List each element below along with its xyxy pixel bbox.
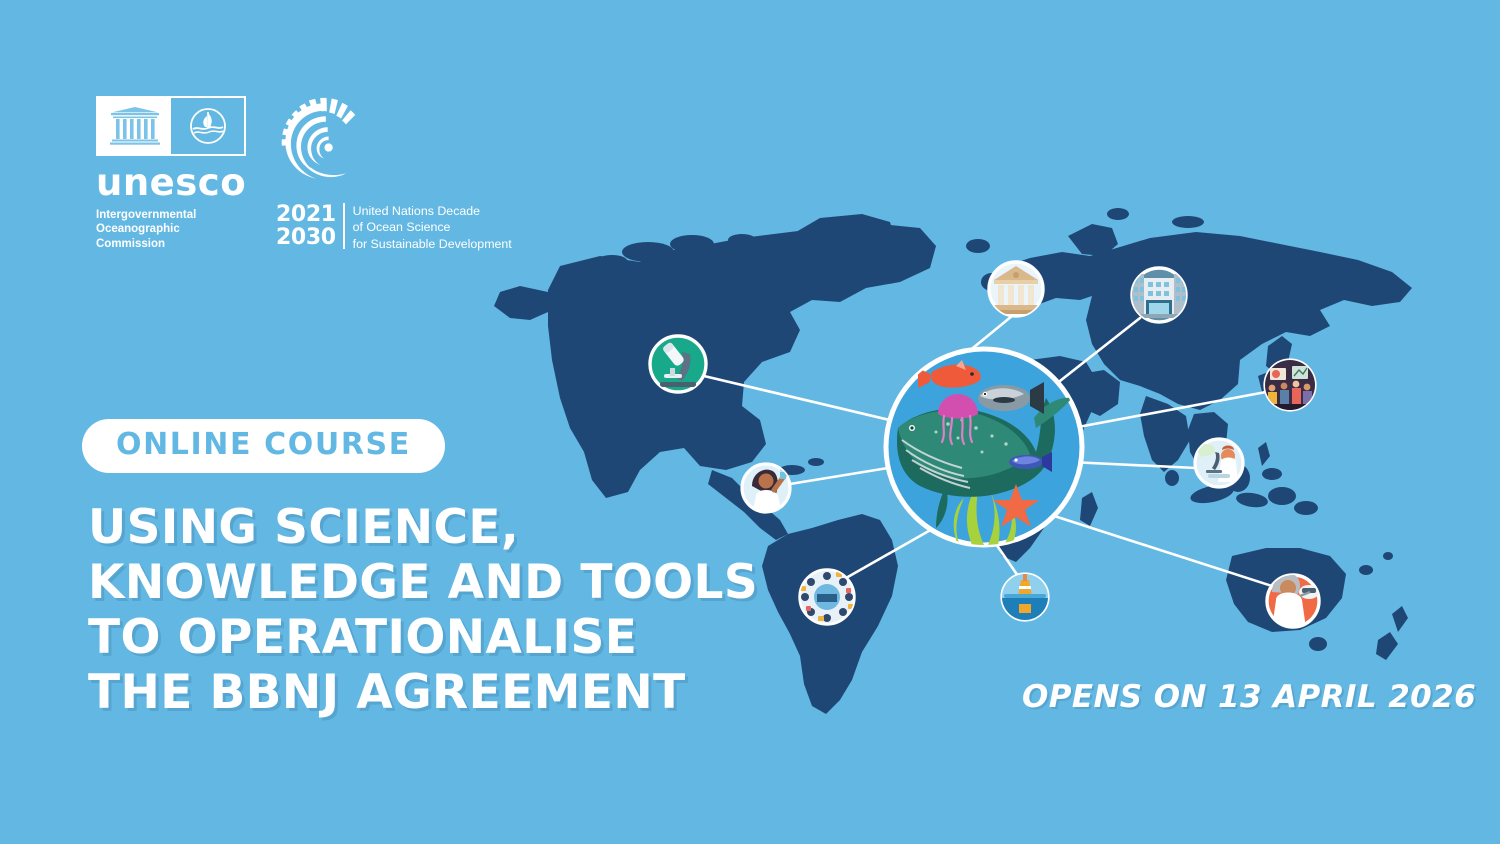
node-workshop-meeting[interactable] xyxy=(1265,360,1315,412)
link-lab-center xyxy=(1070,462,1196,468)
unesco-temple-icon xyxy=(98,98,171,154)
opens-on-date: OPENS ON 13 APRIL 2026 xyxy=(1022,679,1476,715)
land-alaska xyxy=(494,286,548,320)
unesco-logo: unesco Intergovernmental Oceanographic C… xyxy=(96,96,248,251)
land-new-zealand-south xyxy=(1376,632,1398,660)
land-novaya-zemlya xyxy=(1172,216,1204,228)
node-collaboration[interactable] xyxy=(800,570,854,624)
ocean-decade-text: 2021 2030 United Nations Decade of Ocean… xyxy=(276,203,536,252)
node-microscope[interactable] xyxy=(650,336,706,392)
link-field-center xyxy=(1048,514,1272,586)
ioc-ship-wave-icon xyxy=(171,98,244,154)
land-svalbard xyxy=(1107,208,1129,220)
land-pacific-island-1 xyxy=(1359,565,1373,575)
node-lab-scientist[interactable] xyxy=(1195,439,1243,487)
page-title: USING SCIENCE, KNOWLEDGE AND TOOLS TO OP… xyxy=(88,500,758,720)
node-field-researcher[interactable] xyxy=(1267,574,1319,628)
land-pacific-island-2 xyxy=(1383,552,1393,560)
land-tasmania xyxy=(1309,637,1327,651)
ocean-biodiversity-circle[interactable] xyxy=(886,349,1082,545)
unesco-emblem xyxy=(96,96,246,156)
land-iceland xyxy=(966,239,990,253)
ocean-decade-spiral-icon xyxy=(278,96,370,188)
land-caribbean-2 xyxy=(808,458,824,466)
ocean-decade-caption: United Nations Decade of Ocean Science f… xyxy=(345,203,512,252)
node-modern-institute[interactable] xyxy=(1130,268,1188,322)
node-ocean-buoy[interactable] xyxy=(1002,574,1048,620)
poster-canvas: unesco Intergovernmental Oceanographic C… xyxy=(0,0,1500,844)
ocean-decade-years: 2021 2030 xyxy=(276,203,345,249)
node-classical-building[interactable] xyxy=(989,262,1043,316)
unesco-temple-svg xyxy=(108,107,162,145)
ocean-decade-logo: 2021 2030 United Nations Decade of Ocean… xyxy=(276,96,536,252)
unesco-subtitle: Intergovernmental Oceanographic Commissi… xyxy=(96,208,248,251)
link-classical-center xyxy=(968,316,1012,352)
land-madagascar xyxy=(1080,492,1098,526)
land-sri-lanka xyxy=(1165,470,1179,486)
land-philippines xyxy=(1258,442,1270,466)
unesco-wordmark: unesco xyxy=(96,164,248,201)
land-new-zealand xyxy=(1392,606,1408,632)
ocean-buoy-icon xyxy=(1002,574,1048,620)
ioc-emblem-svg xyxy=(188,106,228,146)
modern-institute-icon xyxy=(1130,274,1188,318)
online-course-badge: ONLINE COURSE xyxy=(82,419,445,473)
